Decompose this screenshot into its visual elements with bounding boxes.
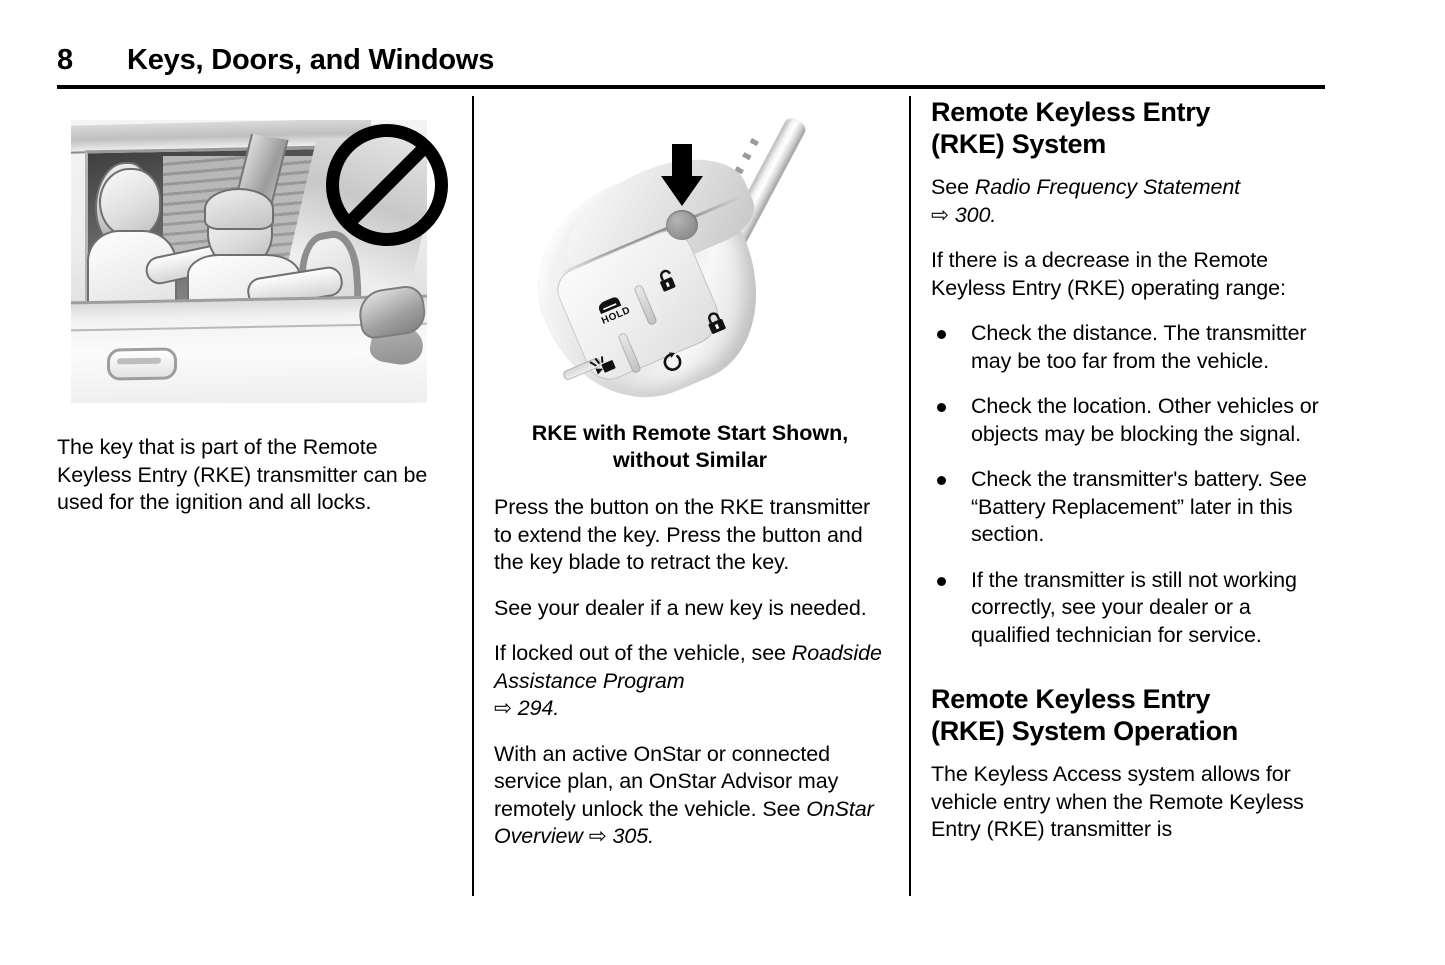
- column-two: HOLD: [494, 96, 886, 851]
- arrow-head: [661, 176, 703, 206]
- onstar-period: .: [648, 824, 654, 848]
- radio-frequency-page-ref: ⇨ 300.: [931, 203, 996, 227]
- rke-system-operation-heading-line-1: Remote Keyless Entry: [931, 684, 1210, 714]
- radio-frequency-period: .: [990, 203, 996, 227]
- key-release-button: [666, 210, 698, 240]
- no-entry-icon: [326, 124, 448, 246]
- onstar-lead: With an active OnStar or connected servi…: [494, 742, 838, 821]
- bullet-dot-icon: [937, 577, 946, 586]
- press-button-paragraph: Press the button on the RKE transmitter …: [494, 494, 886, 577]
- keyless-access-paragraph: The Keyless Access system allows for veh…: [931, 761, 1325, 844]
- rke-system-heading: Remote Keyless Entry (RKE) System: [931, 96, 1325, 160]
- list-item: Check the location. Other vehicles or ob…: [931, 393, 1325, 448]
- locked-out-paragraph: If locked out of the vehicle, see Roadsi…: [494, 640, 886, 723]
- roadside-assistance-page-ref: ⇨ 294.: [494, 696, 559, 720]
- onstar-page-ref: ⇨ 305.: [589, 824, 654, 848]
- page-ref-arrow-icon: ⇨: [589, 823, 607, 851]
- no-entry-slash: [348, 146, 425, 223]
- list-item-text: Check the transmitter's battery. See “Ba…: [971, 467, 1307, 546]
- rke-troubleshooting-list: Check the distance. The transmitter may …: [931, 320, 1325, 649]
- bullet-dot-icon: [937, 330, 946, 339]
- column-one: The key that is part of the Remote Keyle…: [57, 96, 449, 517]
- page-ref-arrow-icon: ⇨: [931, 202, 949, 230]
- header-rule: [57, 85, 1325, 89]
- onstar-paragraph: With an active OnStar or connected servi…: [494, 741, 886, 851]
- list-item: Check the distance. The transmitter may …: [931, 320, 1325, 375]
- column-three: Remote Keyless Entry (RKE) System See Ra…: [931, 96, 1325, 844]
- rke-range-intro-paragraph: If there is a decrease in the Remote Key…: [931, 247, 1325, 302]
- onstar-page-number: 305: [612, 824, 648, 848]
- list-item-text: Check the location. Other vehicles or ob…: [971, 394, 1319, 446]
- figure-caption-line-1: RKE with Remote Start Shown,: [532, 421, 849, 445]
- locked-out-lead: If locked out of the vehicle, see: [494, 641, 792, 665]
- list-item: If the transmitter is still not working …: [931, 567, 1325, 650]
- column-one-paragraph: The key that is part of the Remote Keyle…: [57, 434, 449, 517]
- figure-caption-line-2: without Similar: [613, 448, 767, 472]
- child-girl-head: [99, 168, 161, 238]
- column-divider-1: [472, 96, 474, 896]
- rke-system-heading-line-1: Remote Keyless Entry: [931, 97, 1210, 127]
- page-header: 8 Keys, Doors, and Windows: [57, 44, 1325, 90]
- page-title: Keys, Doors, and Windows: [127, 44, 494, 77]
- rke-transmitter-illustration: HOLD: [494, 96, 886, 406]
- roadside-assistance-period: .: [553, 696, 559, 720]
- radio-frequency-paragraph: See Radio Frequency Statement⇨ 300.: [931, 174, 1325, 229]
- roadside-assistance-page-number: 294: [518, 696, 554, 720]
- rke-system-heading-line-2: (RKE) System: [931, 129, 1106, 159]
- child-boy-hair: [204, 188, 274, 230]
- arrow-stem: [672, 144, 692, 178]
- list-item-text: Check the distance. The transmitter may …: [971, 321, 1306, 373]
- page-number: 8: [57, 44, 73, 77]
- children-playing-in-vehicle-illustration: [71, 120, 448, 408]
- radio-frequency-statement-reference: Radio Frequency Statement: [975, 175, 1240, 199]
- list-item-text: If the transmitter is still not working …: [971, 568, 1297, 647]
- bullet-dot-icon: [937, 476, 946, 485]
- illustration-stage: HOLD: [494, 96, 886, 406]
- bullet-dot-icon: [937, 403, 946, 412]
- page-ref-arrow-icon: ⇨: [494, 695, 512, 723]
- column-divider-2: [909, 96, 911, 896]
- list-item: Check the transmitter's battery. See “Ba…: [931, 466, 1325, 549]
- figure-caption: RKE with Remote Start Shown, without Sim…: [494, 420, 886, 474]
- see-dealer-paragraph: See your dealer if a new key is needed.: [494, 595, 886, 623]
- rke-system-operation-heading: Remote Keyless Entry (RKE) System Operat…: [931, 683, 1325, 747]
- rke-system-operation-heading-line-2: (RKE) System Operation: [931, 716, 1238, 746]
- radio-frequency-lead: See: [931, 175, 975, 199]
- car-door-handle: [107, 347, 177, 380]
- down-arrow-icon: [661, 144, 703, 206]
- radio-frequency-page-number: 300: [955, 203, 991, 227]
